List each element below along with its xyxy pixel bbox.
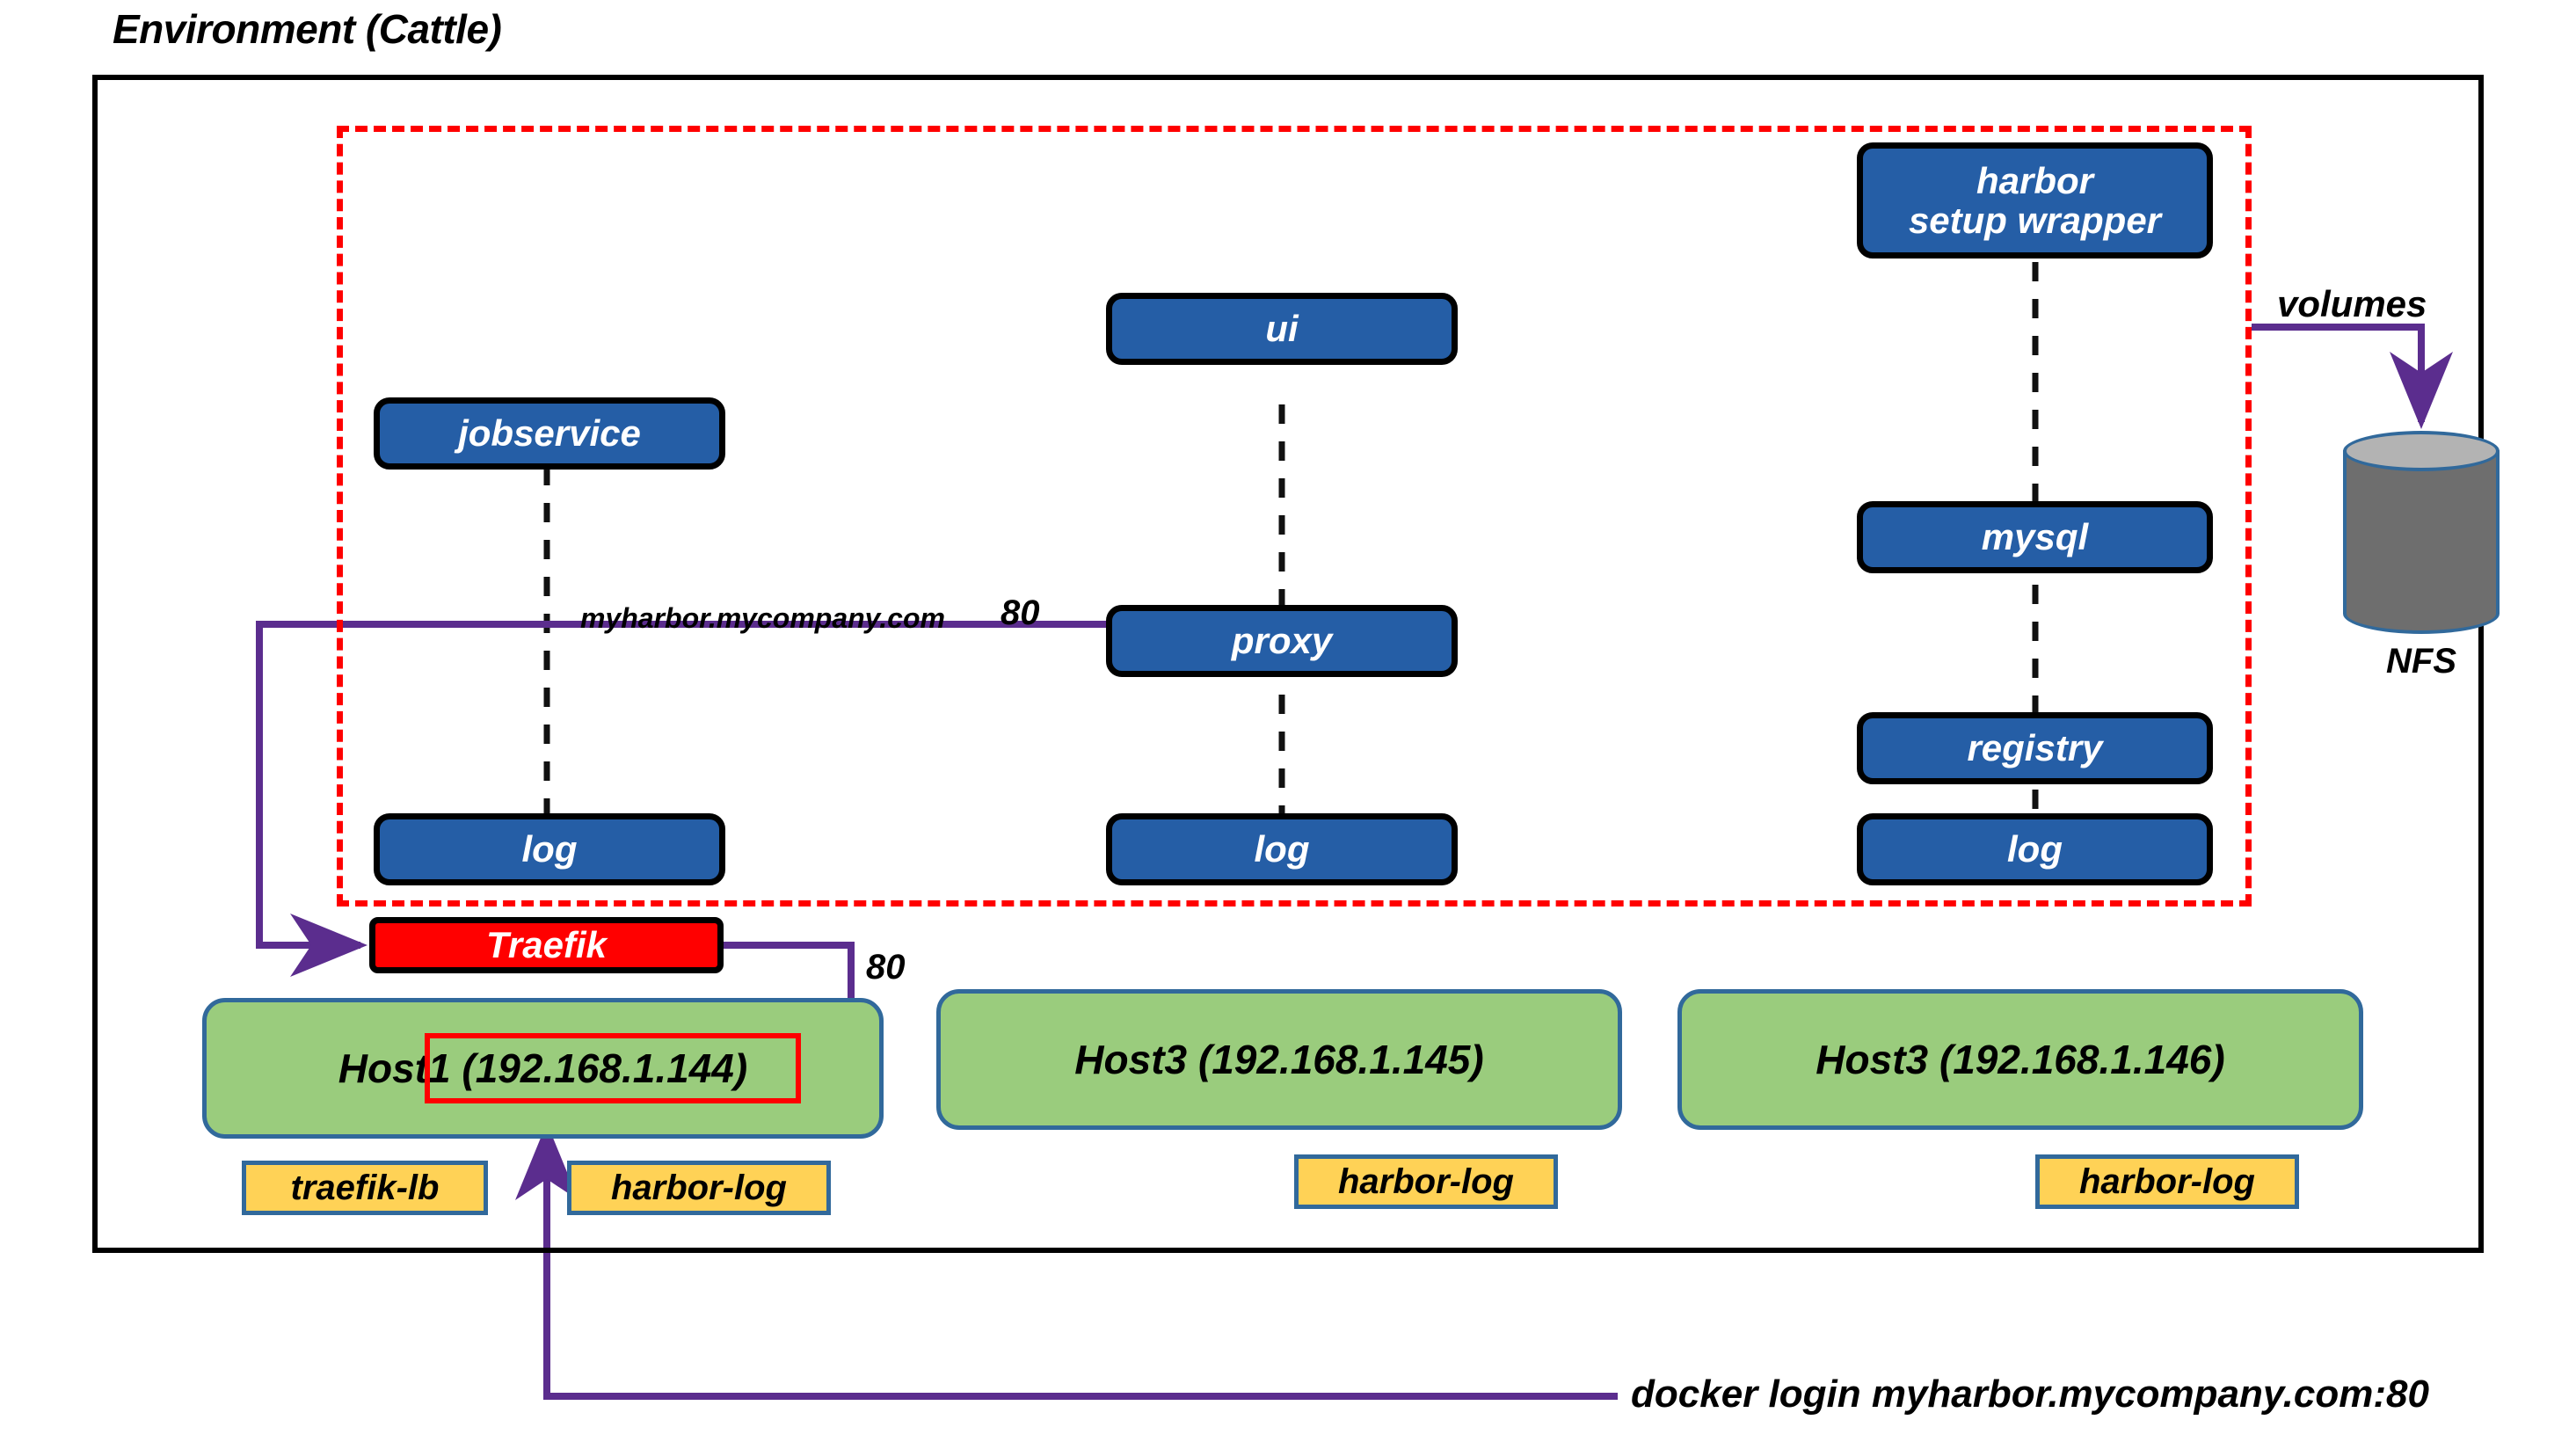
- service-log-left[interactable]: log: [374, 813, 725, 885]
- service-traefik[interactable]: Traefik: [369, 917, 724, 973]
- host-3-badge-harbor-log[interactable]: harbor-log: [2035, 1154, 2299, 1209]
- service-registry[interactable]: registry: [1857, 712, 2213, 784]
- service-proxy[interactable]: proxy: [1106, 605, 1458, 677]
- nfs-label: NFS: [2343, 642, 2500, 681]
- host-2[interactable]: Host3 (192.168.1.145): [936, 989, 1622, 1130]
- service-jobservice[interactable]: jobservice: [374, 397, 725, 470]
- nfs-cylinder: [2343, 431, 2500, 633]
- diagram-canvas: Environment (Cattle) jobservice log ui p…: [0, 0, 2576, 1449]
- nfs-cylinder-body: [2343, 450, 2500, 614]
- service-log-middle[interactable]: log: [1106, 813, 1458, 885]
- annotation-port-traefik: 80: [866, 948, 906, 987]
- annotation-volumes: volumes: [2277, 283, 2427, 325]
- service-mysql[interactable]: mysql: [1857, 501, 2213, 573]
- host-1-badge-traefik-lb[interactable]: traefik-lb: [242, 1161, 488, 1215]
- service-ui[interactable]: ui: [1106, 293, 1458, 365]
- host-3[interactable]: Host3 (192.168.1.146): [1677, 989, 2363, 1130]
- host-2-badge-harbor-log[interactable]: harbor-log: [1294, 1154, 1558, 1209]
- service-harbor-setup-wrapper[interactable]: harbor setup wrapper: [1857, 142, 2213, 258]
- service-log-right[interactable]: log: [1857, 813, 2213, 885]
- annotation-docker-login: docker login myharbor.mycompany.com:80: [1631, 1373, 2429, 1416]
- host-1-ip-highlight: [425, 1033, 801, 1103]
- environment-title: Environment (Cattle): [113, 5, 501, 53]
- annotation-port-proxy: 80: [1001, 593, 1040, 633]
- host-1-badge-harbor-log[interactable]: harbor-log: [567, 1161, 831, 1215]
- nfs-cylinder-top: [2343, 431, 2500, 471]
- annotation-domain: myharbor.mycompany.com: [580, 602, 945, 635]
